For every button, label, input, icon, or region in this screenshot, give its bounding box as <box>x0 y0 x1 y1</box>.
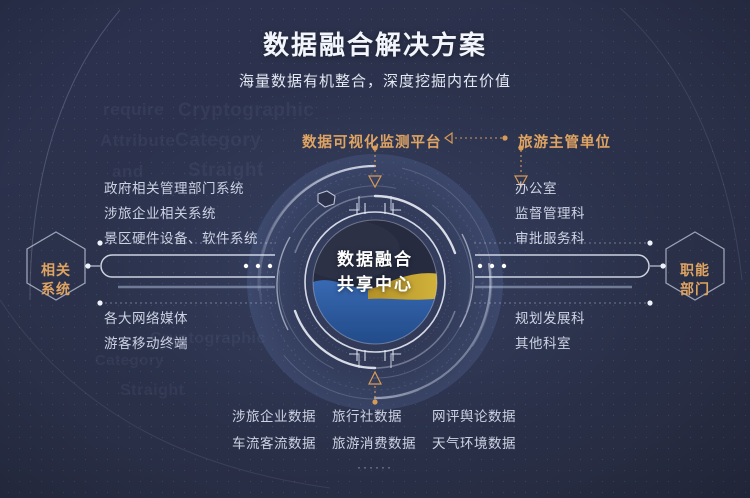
hexagon-left-line1: 相关 <box>41 261 71 280</box>
list-item[interactable]: 天气环境数据 <box>432 432 516 459</box>
core-line2: 共享中心 <box>299 273 451 298</box>
list-item[interactable]: 旅行社数据 <box>332 405 402 432</box>
watermark-text: Straight <box>120 382 184 400</box>
list-item[interactable]: 网评舆论数据 <box>432 405 516 432</box>
hexagon-related-systems[interactable]: 相关 系统 <box>13 232 99 328</box>
list-item[interactable]: 其他科室 <box>515 331 585 356</box>
list-item[interactable]: 政府相关管理部门系统 <box>104 176 258 201</box>
list-item[interactable]: 涉旅企业数据 <box>232 405 316 432</box>
watermark-text: Cryptographic <box>178 100 314 122</box>
label-tourism-authority[interactable]: 旅游主管单位 <box>518 131 611 152</box>
list-item[interactable]: 景区硬件设备、软件系统 <box>104 226 258 251</box>
hexagon-functional-departments[interactable]: 职能 部门 <box>652 232 738 328</box>
list-item[interactable]: 审批服务科 <box>515 226 585 251</box>
link-visualization-to-authority <box>445 133 508 143</box>
left-bottom-system-list: 各大网络媒体 游客移动终端 <box>104 306 188 356</box>
watermark-text: require <box>103 100 164 120</box>
watermark-text: Category <box>175 130 261 152</box>
core-line1: 数据融合 <box>299 248 451 273</box>
hexagon-left-line2: 系统 <box>41 280 71 299</box>
list-item[interactable]: 游客移动终端 <box>104 331 188 356</box>
right-top-department-list: 办公室 监督管理科 审批服务科 <box>515 176 585 251</box>
bottom-data-source-grid: 涉旅企业数据 旅行社数据 网评舆论数据 车流客流数据 旅游消费数据 天气环境数据 <box>232 405 532 459</box>
page-title: 数据融合解决方案 <box>0 25 750 62</box>
list-item[interactable]: 规划发展科 <box>515 306 585 331</box>
page-subtitle: 海量数据有机整合，深度挖掘内在价值 <box>0 70 750 91</box>
hexagon-right-line1: 职能 <box>680 261 710 280</box>
list-item[interactable]: 车流客流数据 <box>232 432 316 459</box>
right-bottom-department-list: 规划发展科 其他科室 <box>515 306 585 356</box>
list-item[interactable]: 旅游消费数据 <box>332 432 416 459</box>
arrow-up-data-sources <box>369 372 381 405</box>
infographic-canvas: Cryptographic Category Straight require … <box>0 0 750 498</box>
list-item[interactable]: 监督管理科 <box>515 201 585 226</box>
left-top-system-list: 政府相关管理部门系统 涉旅企业相关系统 景区硬件设备、软件系统 <box>104 176 258 251</box>
list-item[interactable]: 办公室 <box>515 176 585 201</box>
label-visualization-platform[interactable]: 数据可视化监测平台 <box>302 131 442 152</box>
list-item[interactable]: 各大网络媒体 <box>104 306 188 331</box>
watermark-text: Attribute <box>100 131 175 151</box>
list-item[interactable]: 涉旅企业相关系统 <box>104 201 258 226</box>
bottom-ellipsis: ······ <box>0 460 750 474</box>
hexagon-right-line2: 部门 <box>680 280 710 299</box>
core-label: 数据融合 共享中心 <box>299 248 451 297</box>
